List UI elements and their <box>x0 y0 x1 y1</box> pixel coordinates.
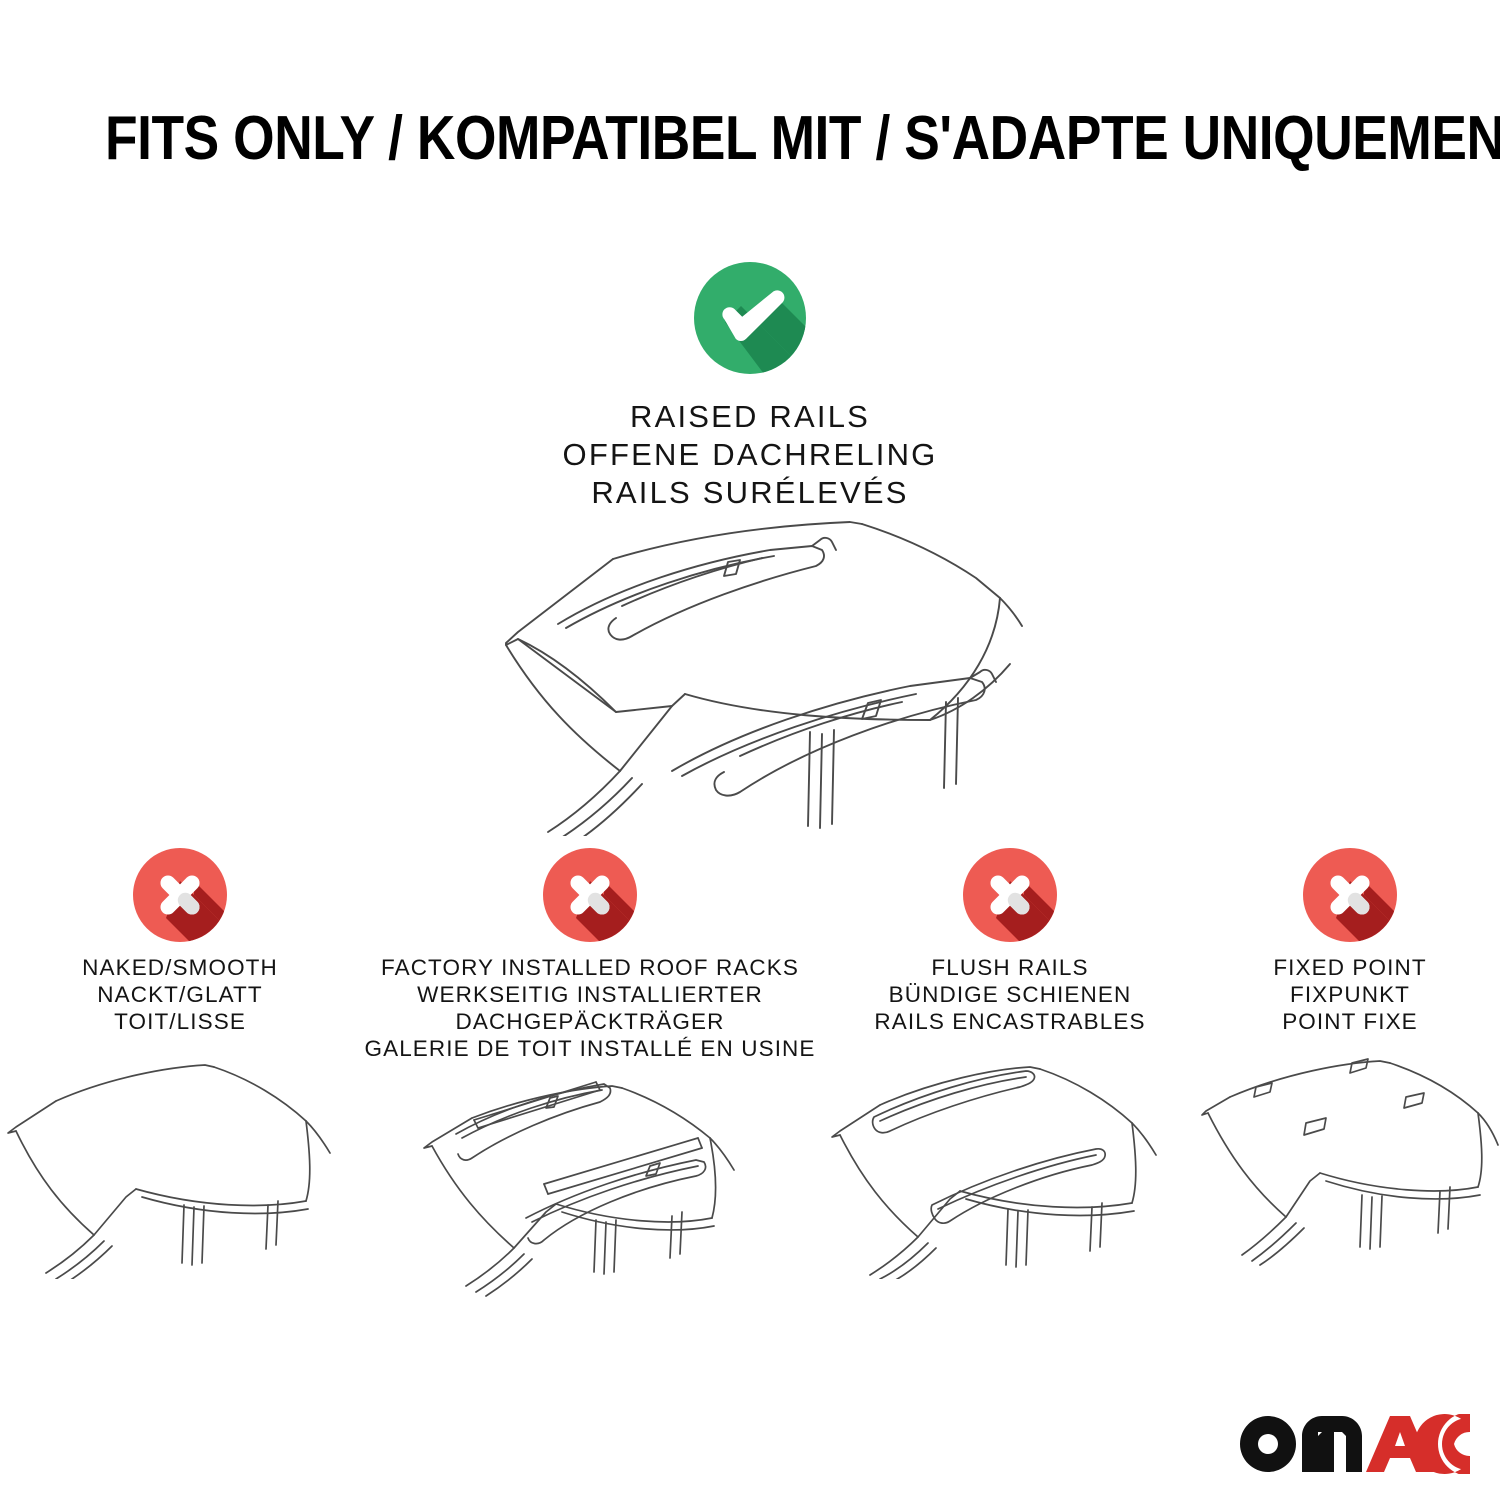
incompatible-item-factory-racks: FACTORY INSTALLED ROOF RACKS WERKSEITIG … <box>360 848 820 1306</box>
label-fr: TOIT/LISSE <box>0 1008 360 1035</box>
incompatible-labels-fixed-point: FIXED POINT FIXPUNKT POINT FIXE <box>1200 954 1500 1035</box>
label-en: FIXED POINT <box>1200 954 1500 981</box>
x-circle-icon <box>543 848 637 942</box>
logo-letter-m <box>1302 1416 1362 1472</box>
x-circle-icon <box>133 848 227 942</box>
label-en: FACTORY INSTALLED ROOF RACKS <box>360 954 820 981</box>
car-roof-raised-rails-drawing <box>410 506 1090 836</box>
incompatible-item-naked-smooth: NAKED/SMOOTH NACKT/GLATT TOIT/LISSE <box>0 848 360 1279</box>
x-circle-icon <box>963 848 1057 942</box>
label-fr: RAILS ENCASTRABLES <box>820 1008 1200 1035</box>
incompatible-section: NAKED/SMOOTH NACKT/GLATT TOIT/LISSE <box>0 848 1500 1306</box>
incompatible-item-fixed-point: FIXED POINT FIXPUNKT POINT FIXE <box>1200 848 1500 1279</box>
label-en: FLUSH RAILS <box>820 954 1200 981</box>
page-title: FITS ONLY / KOMPATIBEL MIT / S'ADAPTE UN… <box>105 104 1395 174</box>
label-de-line2: DACHGEPÄCKTRÄGER <box>360 1008 820 1035</box>
logo-letter-o <box>1240 1416 1296 1472</box>
label-de: BÜNDIGE SCHIENEN <box>820 981 1200 1008</box>
label-de: NACKT/GLATT <box>0 981 360 1008</box>
car-roof-factory-racks-drawing <box>360 1076 820 1306</box>
label-en: NAKED/SMOOTH <box>0 954 360 981</box>
check-circle-icon <box>694 262 806 374</box>
label-de-line1: WERKSEITIG INSTALLIERTER <box>360 981 820 1008</box>
label-fr: GALERIE DE TOIT INSTALLÉ EN USINE <box>360 1035 820 1062</box>
compatible-labels: RAISED RAILS OFFENE DACHRELING RAILS SUR… <box>0 398 1500 512</box>
incompatible-labels-flush-rails: FLUSH RAILS BÜNDIGE SCHIENEN RAILS ENCAS… <box>820 954 1200 1035</box>
compatible-label-de: OFFENE DACHRELING <box>0 436 1500 474</box>
compatible-section: RAISED RAILS OFFENE DACHRELING RAILS SUR… <box>0 262 1500 512</box>
x-circle-icon <box>1303 848 1397 942</box>
incompatible-labels-naked-smooth: NAKED/SMOOTH NACKT/GLATT TOIT/LISSE <box>0 954 360 1035</box>
incompatible-labels-factory-racks: FACTORY INSTALLED ROOF RACKS WERKSEITIG … <box>360 954 820 1062</box>
compatible-label-en: RAISED RAILS <box>0 398 1500 436</box>
incompatible-item-flush-rails: FLUSH RAILS BÜNDIGE SCHIENEN RAILS ENCAS… <box>820 848 1200 1279</box>
omac-logo <box>1238 1414 1470 1474</box>
car-roof-naked-drawing <box>0 1049 360 1279</box>
car-roof-fixed-point-drawing <box>1200 1049 1500 1279</box>
label-fr: POINT FIXE <box>1200 1008 1500 1035</box>
label-de: FIXPUNKT <box>1200 981 1500 1008</box>
car-roof-flush-rails-drawing <box>820 1049 1200 1279</box>
